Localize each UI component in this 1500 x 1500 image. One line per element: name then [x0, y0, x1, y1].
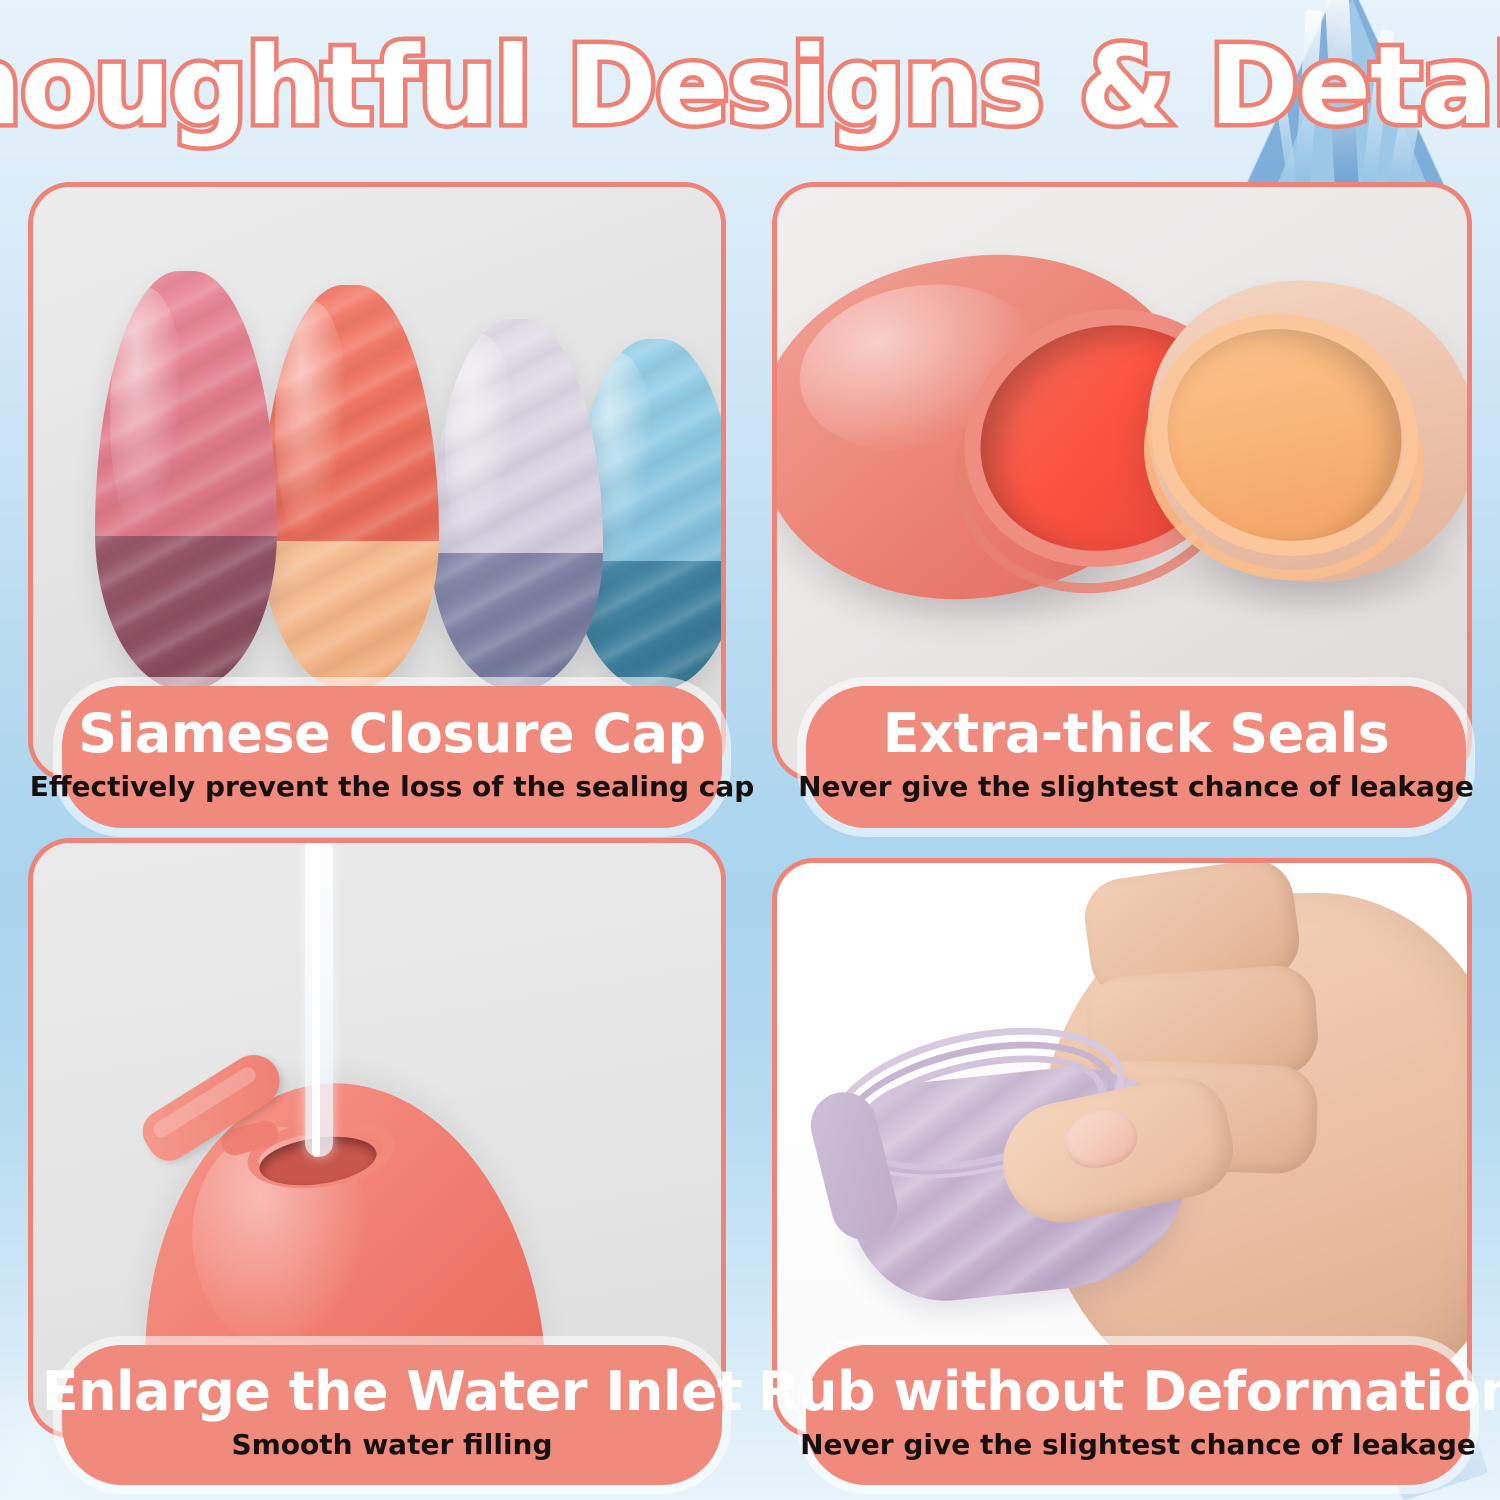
caption-subtitle: Never give the slightest chance of leaka…	[798, 769, 1474, 804]
caption-title: Siamese Closure Cap	[78, 704, 705, 763]
bottle-pink-burgundy	[95, 271, 277, 691]
bottle-lavender-slate	[431, 319, 603, 691]
caption-subtitle: Never give the slightest chance of leaka…	[800, 1427, 1476, 1462]
caption-subtitle: Smooth water filling	[231, 1427, 552, 1462]
caption-subtitle: Effectively prevent the loss of the seal…	[30, 769, 755, 804]
page-header: Thoughtful Designs & Details	[0, 12, 1500, 162]
page-title: Thoughtful Designs & Details	[0, 30, 1500, 143]
caption-enlarge-water-inlet: Enlarge the Water Inlet Smooth water fil…	[62, 1345, 722, 1485]
caption-siamese-closure-cap: Siamese Closure Cap Effectively prevent …	[62, 686, 722, 828]
caption-title: Extra-thick Seals	[883, 704, 1390, 763]
infographic-page: Thoughtful Designs & Details	[0, 0, 1500, 1500]
bottle-coral-peach	[261, 285, 439, 691]
caption-title: Enlarge the Water Inlet	[42, 1362, 743, 1421]
caption-extra-thick-seals: Extra-thick Seals Never give the slighte…	[806, 686, 1466, 828]
caption-title: Rub without Deformation	[758, 1362, 1500, 1421]
caption-rub-without-deformation: Rub without Deformation Never give the s…	[806, 1345, 1470, 1485]
water-stream	[305, 843, 333, 1157]
